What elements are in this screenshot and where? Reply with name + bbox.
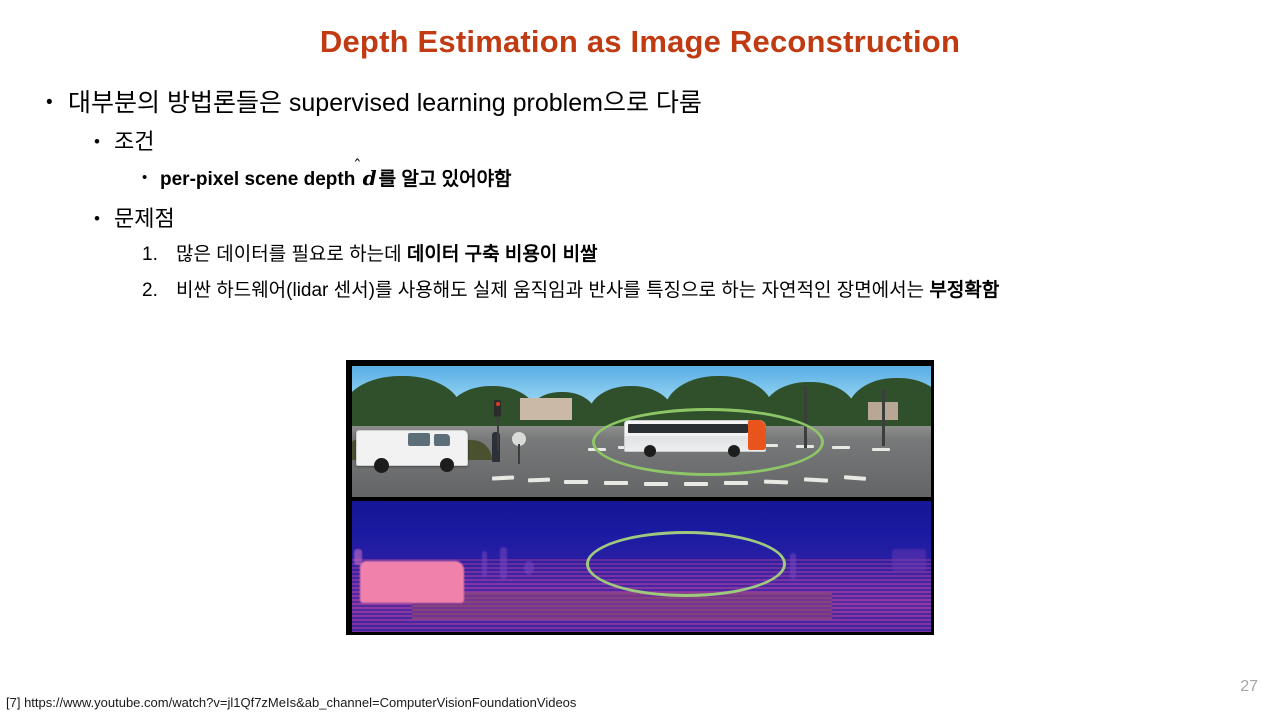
- depth-structure-return: [892, 549, 926, 571]
- condition-detail-suffix: 를 알고 있어야함: [379, 169, 512, 190]
- list-number: 1.: [142, 243, 176, 267]
- problem-item-2: 2.비싼 하드웨어(lidar 센서)를 사용해도 실제 움직임과 반사를 특징…: [142, 279, 1252, 303]
- bullet-condition-label: 조건: [114, 129, 154, 154]
- problem-item-2-text: 비싼 하드웨어(lidar 센서)를 사용해도 실제 움직임과 반사를 특징으로…: [176, 279, 1246, 303]
- page-title: Depth Estimation as Image Reconstruction: [0, 24, 1280, 60]
- annotation-ellipse-bus: [592, 408, 824, 476]
- traffic-light-pole: [497, 416, 499, 450]
- lane-marking: [832, 446, 850, 449]
- problem-item-2-bold: 부정확함: [929, 280, 999, 301]
- depth-pole-return: [790, 553, 796, 579]
- lane-marking: [604, 481, 628, 485]
- problem-item-1-bold: 데이터 구축 비용이 비쌀: [407, 244, 598, 265]
- bullet-problem: •문제점: [94, 205, 1254, 232]
- problem-item-1-regular: 많은 데이터를 필요로 하는데: [176, 244, 407, 265]
- problem-item-1: 1.많은 데이터를 필요로 하는데 데이터 구축 비용이 비쌀: [142, 243, 1252, 267]
- bullet-level1: •대부분의 방법론들은 supervised learning problem으…: [46, 88, 1246, 118]
- van-windshield: [434, 434, 450, 446]
- depth-pole-return: [500, 547, 507, 579]
- problem-item-2-regular: 비싼 하드웨어(lidar 센서)를 사용해도 실제 움직임과 반사를 특징으로…: [176, 280, 929, 301]
- utility-pole: [882, 390, 885, 446]
- sign-pole: [518, 444, 520, 464]
- lane-marking: [724, 481, 748, 485]
- lane-marking: [684, 482, 708, 486]
- depth-pole-return: [482, 551, 487, 577]
- rgb-street-scene: [352, 366, 934, 497]
- depth-van-silhouette: [360, 561, 464, 603]
- bullet-level1-text: 대부분의 방법론들은 supervised learning problem으로…: [68, 89, 702, 117]
- depth-road-near-returns: [412, 593, 832, 619]
- van-wheel: [440, 458, 454, 472]
- traffic-light-red-icon: [496, 402, 500, 406]
- lane-marking: [764, 480, 788, 485]
- lane-marking: [872, 448, 890, 451]
- lane-marking: [644, 482, 668, 486]
- depth-pole-return: [354, 549, 362, 565]
- lidar-depth-map: [352, 501, 934, 632]
- source-footnote: [7] https://www.youtube.com/watch?v=jl1Q…: [6, 695, 576, 710]
- bullet-dot-icon: •: [46, 88, 68, 118]
- figure-depth-comparison: [346, 360, 934, 635]
- building: [520, 398, 572, 420]
- math-variable-letter: d: [363, 166, 377, 190]
- list-number: 2.: [142, 279, 176, 303]
- lane-marking: [528, 478, 550, 483]
- van-window: [408, 433, 430, 446]
- page-number: 27: [1240, 678, 1258, 696]
- lane-marking: [564, 480, 588, 484]
- bullet-dot-icon: •: [94, 205, 114, 232]
- annotation-ellipse-missing-bus: [586, 531, 786, 597]
- condition-detail-prefix: per-pixel scene depth: [160, 169, 361, 190]
- depth-sign-return: [524, 561, 534, 575]
- bullet-condition-detail: •per-pixel scene depth ̂d를 알고 있어야함: [142, 166, 1242, 192]
- math-variable-d-hat: ̂d: [361, 166, 379, 190]
- van-wheel: [374, 458, 389, 473]
- bullet-condition: •조건: [94, 128, 1254, 155]
- bullet-dot-icon: •: [94, 128, 114, 155]
- bullet-dot-icon: •: [142, 166, 160, 190]
- problem-item-1-text: 많은 데이터를 필요로 하는데 데이터 구축 비용이 비쌀: [176, 243, 1246, 267]
- bullet-problem-label: 문제점: [114, 206, 175, 231]
